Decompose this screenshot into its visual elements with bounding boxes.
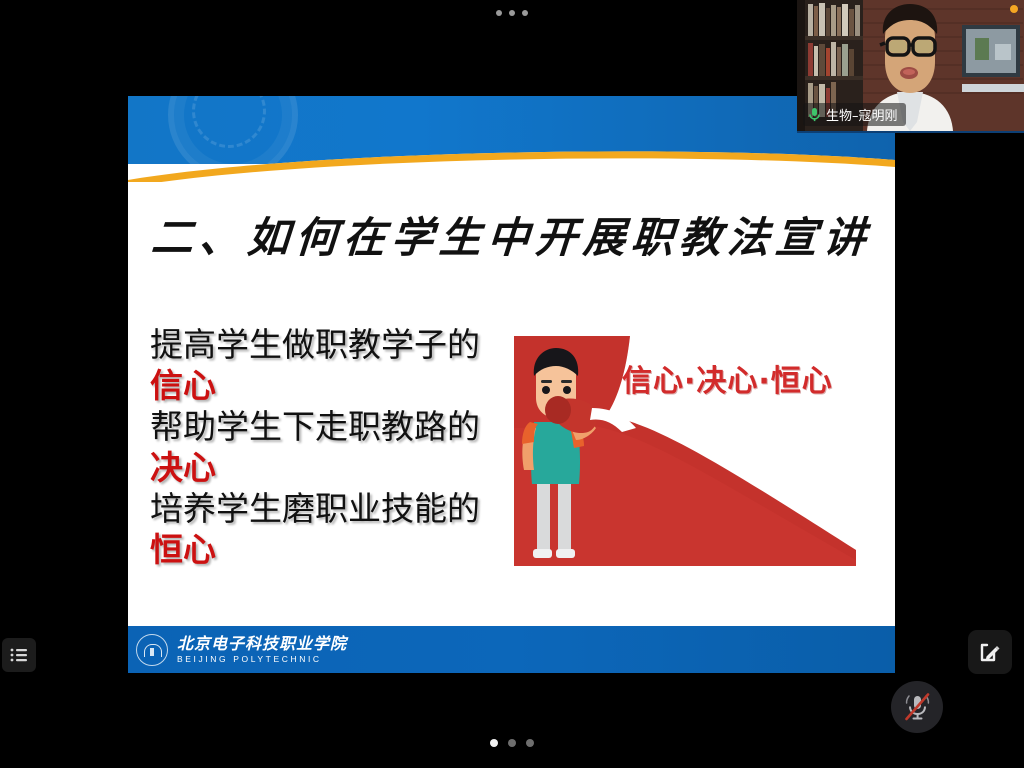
participant-name: 生物–寇明刚 <box>826 105 898 124</box>
list-view-icon <box>10 648 28 662</box>
person-with-megaphone-illustration: 信心·决心·恒心 <box>514 336 856 566</box>
microphone-muted-icon <box>903 692 931 722</box>
body-line: 帮助学生下走职教路的 <box>150 406 520 447</box>
logo-name-english: BEIJING POLYTECHNIC <box>177 655 347 664</box>
illustration-caption: 信心·决心·恒心 <box>622 356 833 400</box>
pagination-dot-2[interactable] <box>508 739 516 747</box>
menu-dot <box>522 10 528 16</box>
microphone-active-icon <box>808 107 821 122</box>
pagination-dots[interactable] <box>0 739 1024 747</box>
slide-title: 二、如何在学生中开展职教法宣讲 <box>128 204 895 265</box>
annotate-pencil-icon <box>977 639 1003 665</box>
participant-name-badge: 生物–寇明刚 <box>803 103 906 126</box>
pagination-dot-3[interactable] <box>526 739 534 747</box>
banner-wave-decoration <box>128 136 895 182</box>
slide-body-text: 提高学生做职教学子的 信心 帮助学生下走职教路的 决心 培养学生磨职业技能的 恒… <box>150 324 520 570</box>
mute-microphone-button[interactable] <box>891 681 943 733</box>
slide-footer-logo-bar: 北京电子科技职业学院 BEIJING POLYTECHNIC <box>128 626 895 673</box>
annotate-button[interactable] <box>968 630 1012 674</box>
body-line: 提高学生做职教学子的 <box>150 324 520 365</box>
shared-slide[interactable]: 二、如何在学生中开展职教法宣讲 提高学生做职教学子的 信心 帮助学生下走职教路的… <box>128 96 895 673</box>
university-seal-icon <box>136 634 168 666</box>
university-logo-text: 北京电子科技职业学院 BEIJING POLYTECHNIC <box>177 636 347 664</box>
body-line-accent: 决心 <box>150 447 520 488</box>
recording-dot-icon <box>1010 5 1018 13</box>
body-line: 培养学生磨职业技能的 <box>150 488 520 529</box>
menu-dot <box>509 10 515 16</box>
meeting-screen-share-window: 二、如何在学生中开展职教法宣讲 提高学生做职教学子的 信心 帮助学生下走职教路的… <box>0 0 1024 768</box>
menu-dot <box>496 10 502 16</box>
list-view-button[interactable] <box>2 638 36 672</box>
body-line-accent: 信心 <box>150 365 520 406</box>
presenter-video-tile[interactable]: 生物–寇明刚 <box>797 0 1024 133</box>
body-line-accent: 恒心 <box>150 529 520 570</box>
logo-name-chinese: 北京电子科技职业学院 <box>177 636 347 652</box>
pagination-dot-1[interactable] <box>490 739 498 747</box>
